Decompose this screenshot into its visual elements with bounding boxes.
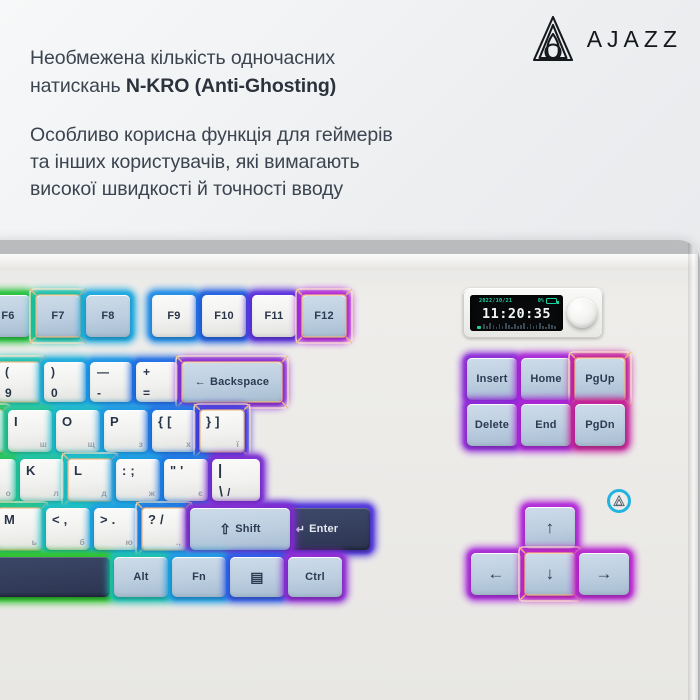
key-legend-secondary: д [101,488,107,498]
arrow-left-key[interactable]: ← [471,553,521,595]
lcd-battery-percent: 0% [538,298,544,304]
key-f8[interactable]: F8 [86,295,130,337]
key-key[interactable]: } ] ї [200,410,244,452]
key-key[interactable]: " ' є [164,459,208,501]
key-legend-primary: > . [100,512,115,527]
key-label: ← Backspace [195,376,270,388]
key-legend-primary: K [26,463,36,478]
key-alt[interactable]: Alt [114,557,168,597]
key-legend-secondary: ш [40,439,47,449]
key-label: End [535,419,556,431]
key-label: F9 [167,310,180,322]
lcd-date: 2022/10/21 [479,298,512,304]
key-label: Home [530,373,561,385]
menu-icon: ▤ [250,569,263,586]
lcd-battery: 0% [538,298,557,304]
key-label: Alt [133,571,148,583]
key-legend-primary: O [62,414,72,429]
subcopy-line-2: та інших користувачів, які вимагають [30,151,360,173]
key-label: Fn [192,571,206,583]
key-pgup[interactable]: PgUp [575,358,625,400]
key-i[interactable]: I ш [8,410,52,452]
arrow-down-key[interactable]: ↓ [525,553,575,595]
key-legend-primary: 0 [51,386,58,400]
key-label: F6 [1,310,14,322]
key-legend-primary: I [14,414,18,429]
key-legend-secondary: ї [236,439,239,449]
key-f10[interactable]: F10 [202,295,246,337]
key-legend-secondary: ю [126,537,133,547]
key-legend-primary: < , [52,512,67,527]
key-insert[interactable]: Insert [467,358,517,400]
arrow-up-key[interactable]: ↑ [525,507,575,549]
key-legend-primary: | [218,463,222,478]
key-home[interactable]: Home [521,358,571,400]
headline-line1: Необмежена кількість одночасних [30,47,335,69]
key-f12[interactable]: F12 [302,295,346,337]
subcopy-line-3: високої швидкості й точності вводу [30,178,343,200]
key-legend-secondary: б [80,537,85,547]
promo-header: Необмежена кількість одночасних натискан… [0,0,700,240]
key-menu-icon[interactable]: ▤ [230,557,284,597]
key-legend-secondary: ., [176,537,181,547]
lcd-screen: 2022/10/21 0% 11:20:35 [470,295,563,331]
key-legend-primary: " ' [170,463,183,478]
key-f6[interactable]: F6 [0,295,30,337]
brand-name: AJAZZ [587,26,682,53]
shift-arrow-icon: ⇧ [219,521,231,538]
ajazz-round-badge-icon [607,489,631,513]
brand-lockup: AJAZZ [531,14,682,64]
key-label: Insert [476,373,507,385]
key-backslash[interactable]: | \ / [212,459,260,501]
key-l[interactable]: L д [68,459,112,501]
key-label: ↵ Enter [296,523,339,536]
arrow-down-icon: ↓ [546,564,555,584]
key-legend-primary: { [ [158,414,172,429]
page-title: Необмежена кількість одночасних натискан… [30,44,470,100]
key-legend-shifted: — [97,365,109,379]
key-fn[interactable]: Fn [172,557,226,597]
arrow-left-icon: ← [195,376,206,388]
promo-subcopy: Особливо корисна функція для геймерів та… [30,122,500,203]
lcd-time: 11:20:35 [470,306,563,322]
key-legend-primary: = [143,386,150,400]
arrow-left-icon: ← [487,564,504,584]
key-label: PgDn [585,419,615,431]
battery-icon [546,298,557,304]
key-legend-primary: M [4,512,15,527]
key-legend-primary: ? / [148,512,164,527]
key-space[interactable] [0,557,110,597]
key-key[interactable]: { [ х [152,410,196,452]
key-label: F8 [101,310,114,322]
arrow-right-key[interactable]: → [579,553,629,595]
key-key[interactable]: — - [90,362,132,402]
keyboard-body: F5F6F7 F8F9F10F11F12 & 7 ?* 8 ( 9 [0,240,700,700]
volume-knob[interactable] [567,298,597,328]
key-label: F7 [51,310,64,322]
key-k[interactable]: K л [20,459,64,501]
key-j[interactable]: J о [0,459,16,501]
key-f11[interactable]: F11 [252,295,296,337]
lcd-footer [477,322,556,329]
key-label: F10 [214,310,234,322]
key-legend-secondary: ь [32,537,37,547]
key-key[interactable]: < , б [46,508,90,550]
lcd-indicator-bar [477,326,481,329]
subcopy-line-1: Особливо корисна функція для геймерів [30,124,393,146]
headline-emphasis: N-KRO (Anti-Ghosting) [126,75,336,97]
key-legend-shifted: ) [51,365,55,379]
key-label: F12 [314,310,334,322]
key-label: Delete [475,419,509,431]
headline-line2-prefix: натискань [30,75,126,97]
key-9[interactable]: ( 9 [0,362,40,402]
key-key[interactable]: > . ю [94,508,138,550]
key-legend-primary: 9 [5,386,12,400]
arrow-right-icon: → [595,564,612,584]
key-legend-primary: - [97,386,101,400]
keyboard-top-bevel [0,254,700,270]
key-label: Ctrl [305,571,325,583]
key-legend-shifted: ( [5,365,9,379]
key-key[interactable]: : ; ж [116,459,160,501]
key-label: ⇧ Shift [219,521,260,538]
key-label: F11 [265,310,284,322]
lcd-module[interactable]: 2022/10/21 0% 11:20:35 [463,288,603,338]
enter-arrow-icon: ↵ [296,523,305,536]
key-legend-secondary: є [198,488,203,498]
key-legend-shifted: + [143,365,150,379]
key-p[interactable]: P з [104,410,148,452]
key-pgdn[interactable]: PgDn [575,404,625,446]
key-legend-secondary: з [139,439,143,449]
key-f9[interactable]: F9 [152,295,196,337]
key-key[interactable]: + = [136,362,178,402]
key-m[interactable]: M ь [0,508,42,550]
lcd-equalizer [483,323,556,329]
key-legend-secondary: х [186,439,191,449]
key-ctrl[interactable]: Ctrl [288,557,342,597]
key-key[interactable]: ? / ., [142,508,186,550]
key-label: PgUp [585,373,615,385]
key-o[interactable]: O щ [56,410,100,452]
key-legend-primary: : ; [122,463,135,478]
ajazz-triangle-logo-icon [531,14,575,64]
key-legend-secondary: \ / [219,483,230,499]
key-0[interactable]: ) 0 [44,362,86,402]
key-legend-secondary: л [53,488,59,498]
key-legend-secondary: щ [88,439,95,449]
key-end[interactable]: End [521,404,571,446]
key-legend-secondary: о [6,488,11,498]
key-legend-secondary: ж [149,488,155,498]
key-f7[interactable]: F7 [36,295,80,337]
key-legend-primary: } ] [206,414,220,429]
key-backspace[interactable]: ← Backspace [182,362,282,402]
key-delete[interactable]: Delete [467,404,517,446]
key-legend-primary: L [74,463,82,478]
arrow-up-icon: ↑ [546,518,555,538]
key-right-shift[interactable]: ⇧ Shift [190,508,290,550]
key-legend-primary: P [110,414,119,429]
